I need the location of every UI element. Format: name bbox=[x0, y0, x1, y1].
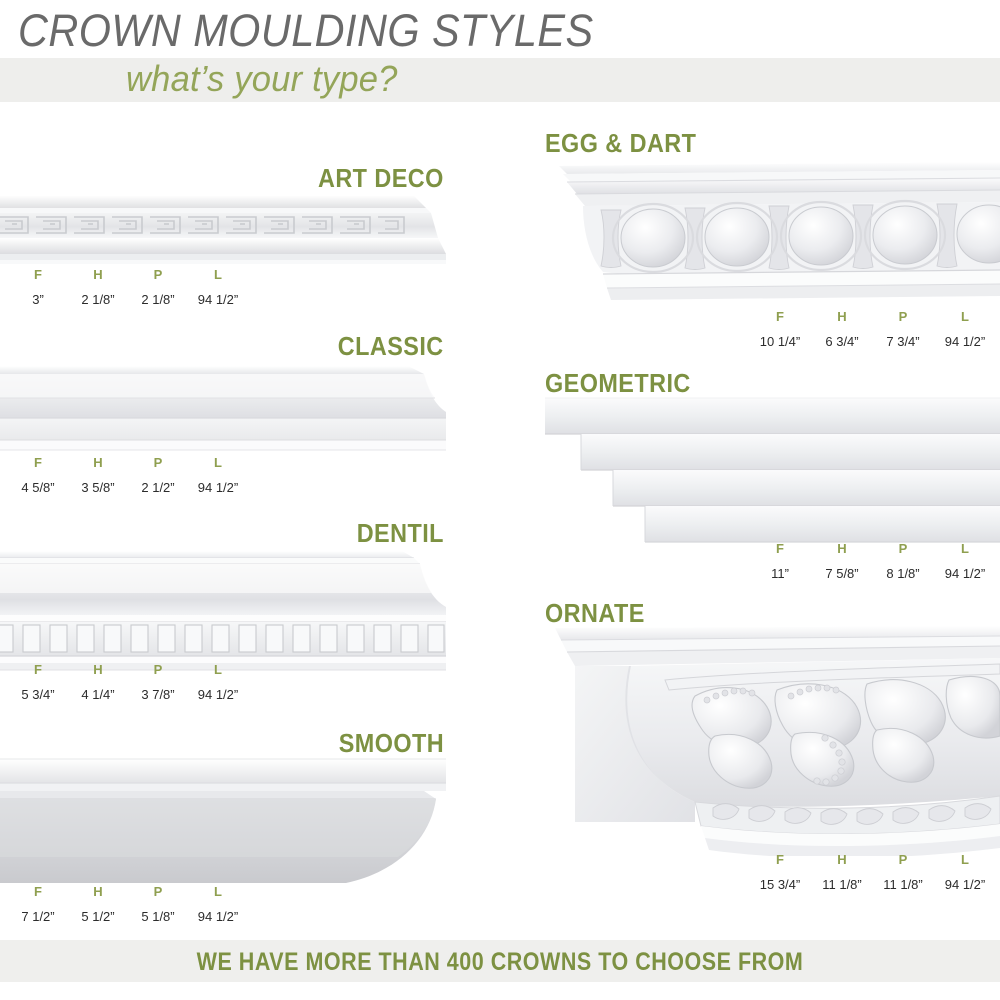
page-title: CROWN MOULDING STYLES bbox=[18, 7, 607, 55]
spec-value-l: 94 1/2” bbox=[930, 335, 1000, 349]
spec-value-f: 11” bbox=[745, 567, 815, 581]
style-title-classic: CLASSIC bbox=[338, 333, 444, 359]
spec-value-p: 11 1/8” bbox=[868, 878, 938, 892]
spec-key-l: L bbox=[198, 456, 238, 470]
style-card-art-deco: ART DECO bbox=[0, 160, 448, 300]
spec-key-f: F bbox=[760, 542, 800, 556]
spec-key-l: L bbox=[945, 853, 985, 867]
spec-key-p: P bbox=[883, 310, 923, 324]
specs-geometric: F H P L 11” 7 5/8” 8 1/8” 94 1/2” bbox=[545, 542, 1000, 582]
spec-key-f: F bbox=[18, 885, 58, 899]
spec-key-h: H bbox=[78, 663, 118, 677]
spec-key-p: P bbox=[138, 663, 178, 677]
moulding-illustration-ornate bbox=[545, 626, 1000, 856]
specs-ornate: F H P L 15 3/4” 11 1/8” 11 1/8” 94 1/2” bbox=[545, 853, 1000, 893]
style-card-egg-and-dart: EGG & DART bbox=[545, 128, 1000, 358]
spec-key-h: H bbox=[78, 885, 118, 899]
spec-value-f: 10 1/4” bbox=[745, 335, 815, 349]
moulding-illustration-dentil bbox=[0, 549, 446, 675]
spec-value-p: 7 3/4” bbox=[868, 335, 938, 349]
spec-key-h: H bbox=[822, 853, 862, 867]
moulding-illustration-egg-and-dart bbox=[545, 160, 1000, 312]
specs-art-deco: F H P L 3” 2 1/8” 2 1/8” 94 1/2” bbox=[0, 268, 448, 308]
spec-key-f: F bbox=[760, 310, 800, 324]
spec-key-l: L bbox=[198, 663, 238, 677]
moulding-illustration-geometric bbox=[545, 396, 1000, 546]
spec-key-p: P bbox=[883, 853, 923, 867]
spec-value-h: 11 1/8” bbox=[807, 878, 877, 892]
spec-key-f: F bbox=[18, 663, 58, 677]
spec-value-l: 94 1/2” bbox=[183, 293, 253, 307]
spec-key-f: F bbox=[18, 268, 58, 282]
specs-egg-and-dart: F H P L 10 1/4” 6 3/4” 7 3/4” 94 1/2” bbox=[545, 310, 1000, 350]
spec-key-p: P bbox=[138, 885, 178, 899]
specs-smooth: F H P L 7 1/2” 5 1/2” 5 1/8” 94 1/2” bbox=[0, 885, 448, 925]
style-card-ornate: ORNATE bbox=[545, 598, 1000, 898]
spec-key-p: P bbox=[883, 542, 923, 556]
style-title-smooth: SMOOTH bbox=[339, 730, 444, 756]
spec-key-p: P bbox=[138, 268, 178, 282]
spec-key-l: L bbox=[945, 310, 985, 324]
spec-value-f: 15 3/4” bbox=[745, 878, 815, 892]
spec-value-l: 94 1/2” bbox=[930, 567, 1000, 581]
spec-key-p: P bbox=[138, 456, 178, 470]
page-subtitle: what’s your type? bbox=[126, 60, 702, 98]
spec-key-h: H bbox=[78, 268, 118, 282]
spec-value-h: 7 5/8” bbox=[807, 567, 877, 581]
spec-value-l: 94 1/2” bbox=[183, 688, 253, 702]
style-card-smooth: SMOOTH bbox=[0, 725, 448, 930]
spec-key-f: F bbox=[18, 456, 58, 470]
spec-value-h: 6 3/4” bbox=[807, 335, 877, 349]
footer-tagline: WE HAVE MORE THAN 400 CROWNS TO CHOOSE F… bbox=[70, 948, 930, 977]
moulding-illustration-art-deco bbox=[0, 192, 446, 276]
style-title-egg-and-dart: EGG & DART bbox=[545, 130, 696, 156]
spec-key-h: H bbox=[78, 456, 118, 470]
spec-value-p: 8 1/8” bbox=[868, 567, 938, 581]
spec-key-l: L bbox=[198, 268, 238, 282]
spec-value-l: 94 1/2” bbox=[183, 481, 253, 495]
specs-dentil: F H P L 5 3/4” 4 1/4” 3 7/8” 94 1/2” bbox=[0, 663, 448, 703]
moulding-illustration-smooth bbox=[0, 757, 446, 887]
spec-value-l: 94 1/2” bbox=[183, 910, 253, 924]
style-title-ornate: ORNATE bbox=[545, 600, 645, 626]
style-title-geometric: GEOMETRIC bbox=[545, 370, 691, 396]
style-card-dentil: DENTIL bbox=[0, 515, 448, 705]
spec-key-f: F bbox=[760, 853, 800, 867]
style-title-dentil: DENTIL bbox=[357, 520, 444, 546]
style-card-classic: CLASSIC bbox=[0, 328, 448, 488]
style-title-art-deco: ART DECO bbox=[318, 165, 444, 191]
spec-value-l: 94 1/2” bbox=[930, 878, 1000, 892]
style-card-geometric: GEOMETRIC bbox=[545, 368, 1000, 588]
specs-classic: F H P L 4 5/8” 3 5/8” 2 1/2” 94 1/2” bbox=[0, 456, 448, 496]
spec-key-l: L bbox=[945, 542, 985, 556]
spec-key-h: H bbox=[822, 542, 862, 556]
infographic-page: CROWN MOULDING STYLES what’s your type? … bbox=[0, 0, 1000, 1000]
spec-key-h: H bbox=[822, 310, 862, 324]
spec-key-l: L bbox=[198, 885, 238, 899]
moulding-illustration-classic bbox=[0, 360, 446, 460]
